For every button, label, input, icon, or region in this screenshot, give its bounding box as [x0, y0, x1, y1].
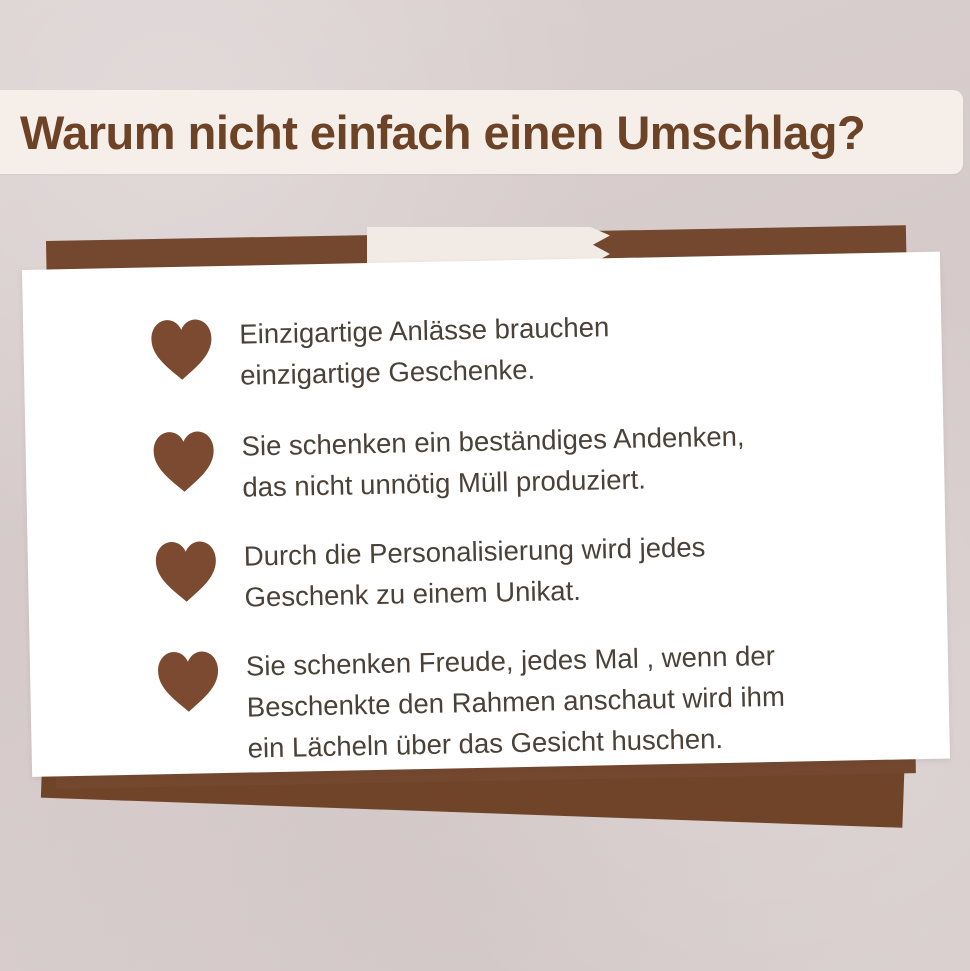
heart-icon: [153, 540, 218, 603]
list-item-text: Einzigartige Anlässe brauchen einzigarti…: [239, 306, 611, 395]
list-item-text: Sie schenken ein beständiges Andenken, d…: [241, 416, 746, 508]
page-title: Warum nicht einfach einen Umschlag?: [20, 105, 865, 160]
list-item-line: Geschenk zu einem Unikat.: [244, 567, 706, 617]
list-item: Einzigartige Anlässe brauchen einzigarti…: [149, 300, 910, 397]
heart-icon: [156, 650, 221, 713]
list-item-line: Einzigartige Anlässe brauchen: [239, 306, 610, 354]
list-item-text: Sie schenken Freude, jedes Mal , wenn de…: [246, 635, 786, 769]
list-item-line: das nicht unnötig Müll produziert.: [242, 457, 746, 508]
list-item-text: Durch die Personalisierung wird jedes Ge…: [243, 526, 706, 617]
poster-canvas: Einzigartige Anlässe brauchen einzigarti…: [0, 0, 970, 971]
list-item-line: einzigartige Geschenke.: [240, 347, 611, 395]
note-card: Einzigartige Anlässe brauchen einzigarti…: [22, 252, 950, 777]
list-item: Durch die Personalisierung wird jedes Ge…: [153, 522, 914, 619]
heart-icon: [149, 318, 214, 381]
bullet-list: Einzigartige Anlässe brauchen einzigarti…: [149, 300, 918, 770]
list-item: Sie schenken ein beständiges Andenken, d…: [151, 412, 912, 509]
list-item: Sie schenken Freude, jedes Mal , wenn de…: [156, 632, 918, 770]
heart-icon: [151, 430, 216, 493]
title-banner: Warum nicht einfach einen Umschlag?: [0, 90, 963, 174]
